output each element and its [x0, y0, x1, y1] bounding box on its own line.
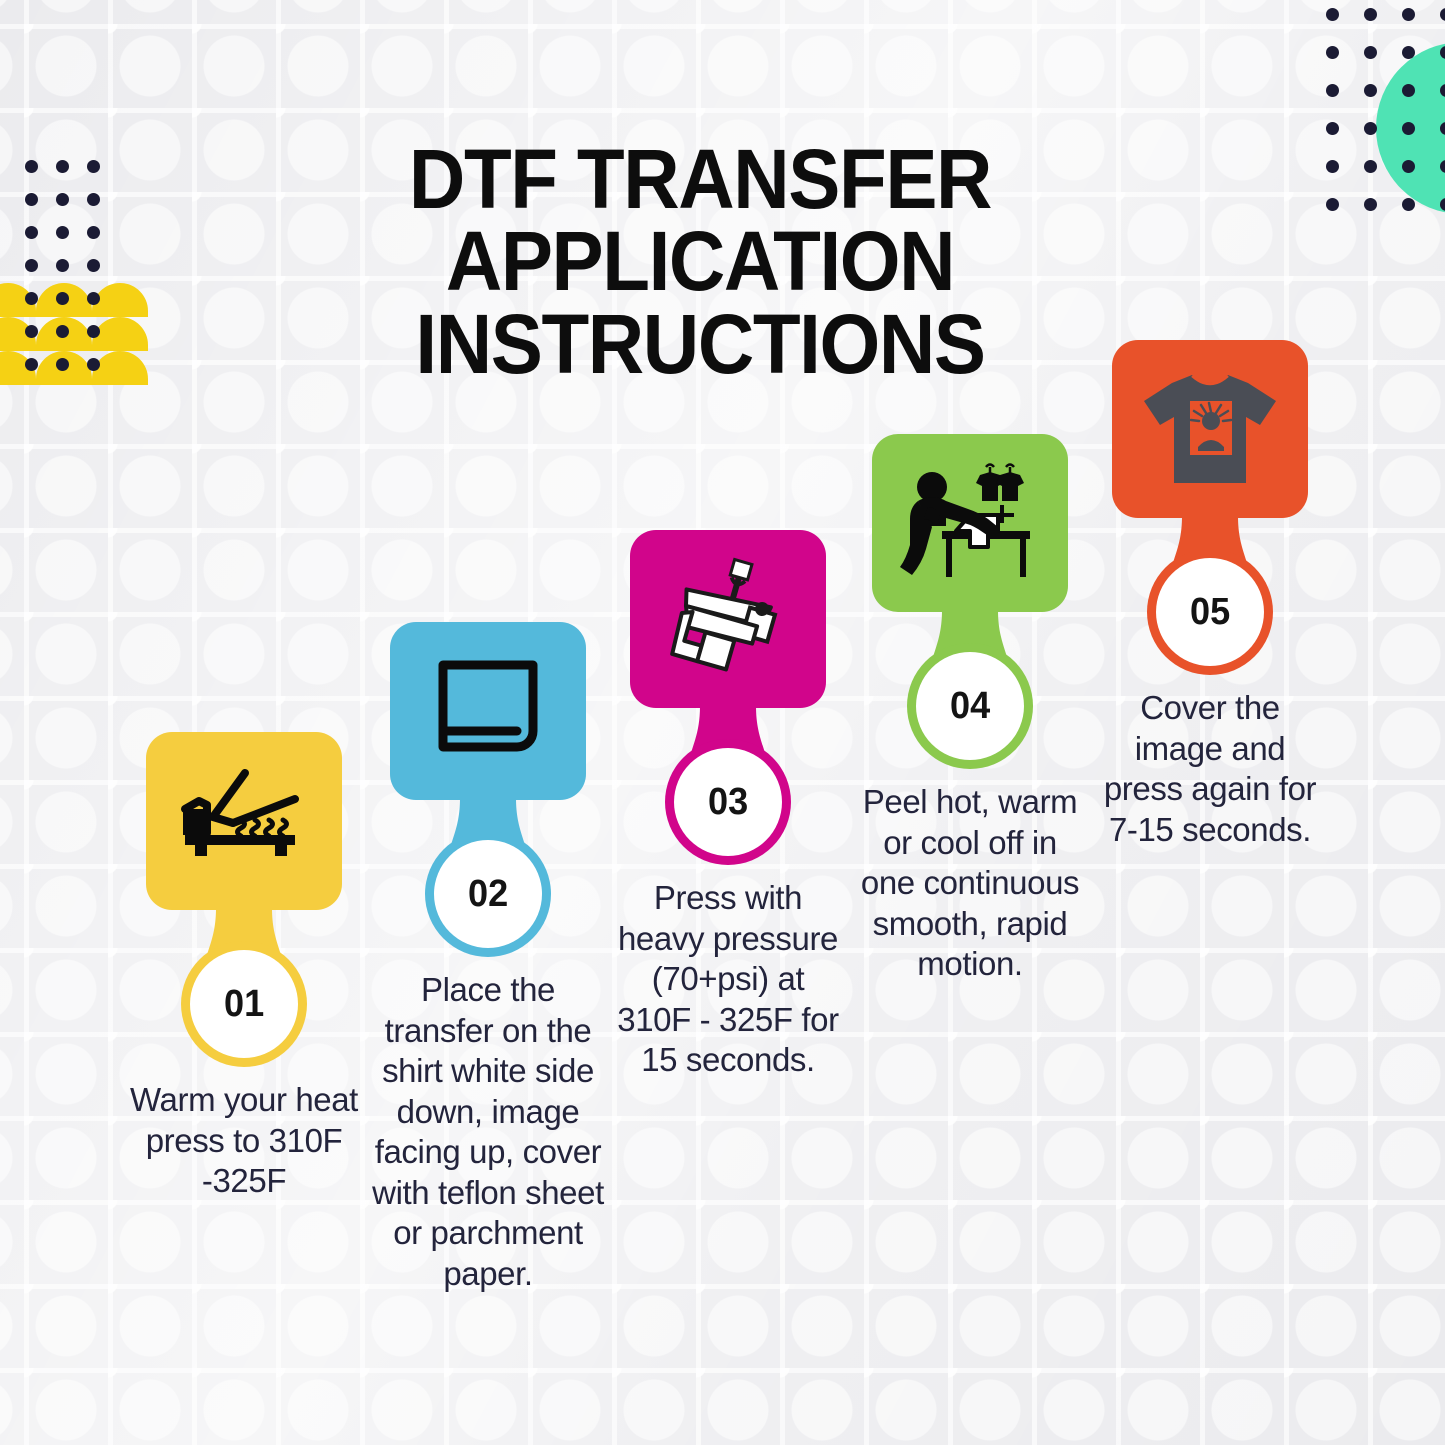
step-04-number-bubble: 04	[916, 652, 1024, 760]
decor-dot	[56, 226, 69, 239]
decor-dot	[1326, 46, 1339, 59]
step-05-number: 05	[1190, 591, 1230, 634]
decor-dot	[56, 358, 69, 371]
step-01-number: 01	[224, 983, 264, 1026]
decor-dot	[25, 358, 38, 371]
step-item-01: 01 Warm your heat press to 310F -325F	[128, 732, 360, 1202]
dot-grid-top-right-decoration	[1326, 8, 1445, 236]
step-02-number-bubble: 02	[434, 840, 542, 948]
step-item-03: 03 Press with heavy pressure (70+psi) at…	[612, 530, 844, 1081]
decor-dot	[1364, 46, 1377, 59]
step-04-caption: Peel hot, warm or cool off in one contin…	[854, 782, 1086, 985]
step-item-04: 04 Peel hot, warm or cool off in one con…	[854, 434, 1086, 985]
decor-dot	[87, 259, 100, 272]
step-05-caption: Cover the image and press again for 7-15…	[1094, 688, 1326, 850]
decor-dot	[1364, 122, 1377, 135]
step-02-icon-card	[390, 622, 586, 800]
step-02-caption: Place the transfer on the shirt white si…	[372, 970, 604, 1295]
decor-dot	[25, 226, 38, 239]
decor-dot	[87, 193, 100, 206]
decor-dot	[25, 292, 38, 305]
decor-dot	[56, 292, 69, 305]
title-line-2: INSTRUCTIONS	[151, 303, 1248, 385]
decor-dot	[56, 160, 69, 173]
decor-dot	[1326, 122, 1339, 135]
decor-dot	[1326, 198, 1339, 211]
decor-dot	[1402, 8, 1415, 21]
decor-dot	[25, 160, 38, 173]
step-03-caption: Press with heavy pressure (70+psi) at 31…	[612, 878, 844, 1081]
decor-dot	[1326, 160, 1339, 173]
decor-dot	[1440, 46, 1445, 59]
decor-dot	[1440, 8, 1445, 21]
decor-dot	[1364, 8, 1377, 21]
step-03-icon-card	[630, 530, 826, 708]
decor-dot	[1402, 198, 1415, 211]
step-01-caption: Warm your heat press to 310F -325F	[128, 1080, 360, 1202]
heat-press-open-icon	[175, 765, 313, 877]
decor-dot	[87, 325, 100, 338]
step-01-icon-card	[146, 732, 342, 910]
decor-dot	[25, 259, 38, 272]
step-05-icon-card	[1112, 340, 1308, 518]
step-04-number: 04	[950, 685, 990, 728]
decor-dot	[1440, 84, 1445, 97]
step-05-number-bubble: 05	[1156, 558, 1264, 666]
decor-dot	[1402, 46, 1415, 59]
infographic-canvas: DTF TRANSFER APPLICATION INSTRUCTIONS	[0, 0, 1445, 1445]
decor-dot	[87, 292, 100, 305]
step-item-02: 02 Place the transfer on the shirt white…	[372, 622, 604, 1295]
page-title: DTF TRANSFER APPLICATION INSTRUCTIONS	[151, 138, 1248, 385]
step-item-05: 05 Cover the image and press again for 7…	[1094, 340, 1326, 850]
decor-dot	[1326, 8, 1339, 21]
decor-dot	[25, 193, 38, 206]
step-04-icon-card	[872, 434, 1068, 612]
decor-dot	[25, 325, 38, 338]
printed-tshirt-icon	[1136, 367, 1284, 491]
decor-dot	[1364, 84, 1377, 97]
decor-dot	[1402, 84, 1415, 97]
decor-dot	[56, 325, 69, 338]
title-line-1: DTF TRANSFER APPLICATION	[151, 138, 1248, 303]
decor-dot	[56, 193, 69, 206]
decor-dot	[1440, 198, 1445, 211]
dot-grid-left-decoration	[25, 160, 118, 391]
decor-dot	[56, 259, 69, 272]
decor-dot	[1364, 198, 1377, 211]
heat-press-machine-icon	[662, 556, 794, 682]
decor-dot	[87, 226, 100, 239]
transfer-sheet-icon	[429, 655, 547, 767]
step-03-number-bubble: 03	[674, 748, 782, 856]
decor-dot	[1440, 122, 1445, 135]
step-03-number: 03	[708, 781, 748, 824]
step-01-number-bubble: 01	[190, 950, 298, 1058]
decor-dot	[1440, 160, 1445, 173]
person-peeling-transfer-icon	[894, 459, 1046, 587]
decor-dot	[1326, 84, 1339, 97]
decor-dot	[1402, 122, 1415, 135]
decor-dot	[1364, 160, 1377, 173]
step-02-number: 02	[468, 873, 508, 916]
decor-dot	[87, 160, 100, 173]
decor-dot	[1402, 160, 1415, 173]
decor-dot	[87, 358, 100, 371]
